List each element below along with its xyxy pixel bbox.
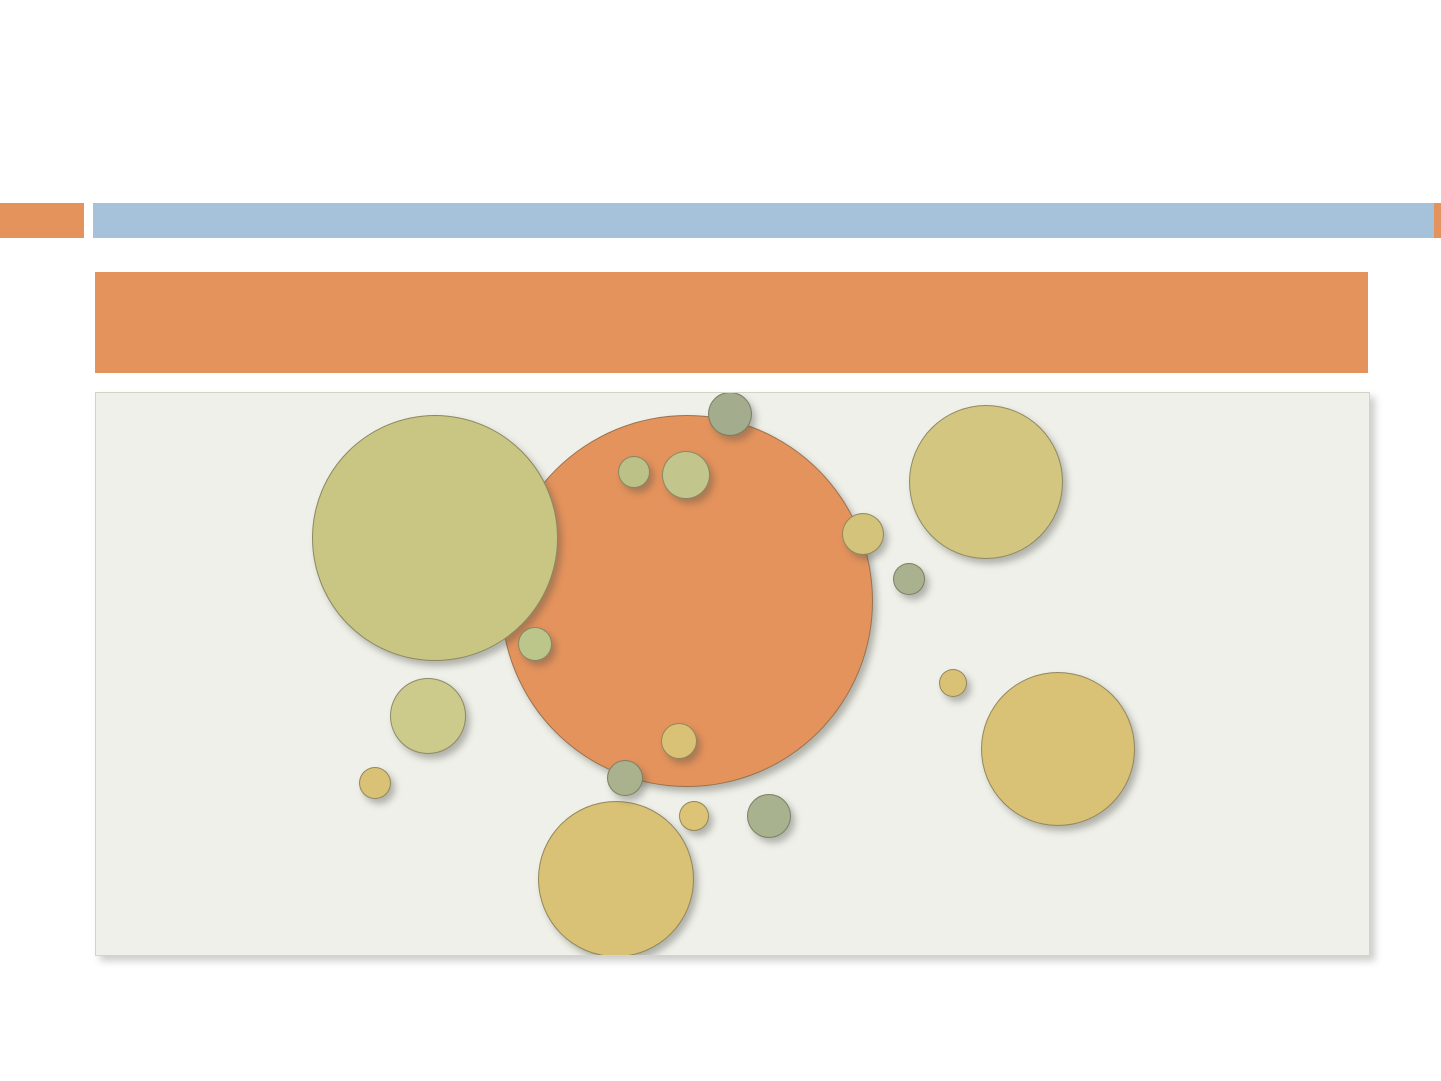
bubble-gold-edge-right[interactable]	[842, 513, 884, 555]
chart-panel[interactable]	[95, 392, 1370, 956]
bubble-olive-right-small[interactable]	[893, 563, 925, 595]
bubble-gold-tiny-left[interactable]	[359, 767, 391, 799]
bubble-gold-tiny-right[interactable]	[939, 669, 967, 697]
bubble-olive-inner-right[interactable]	[662, 451, 710, 499]
bubble-sage-bottom-right[interactable]	[747, 794, 791, 838]
slide-accent-square	[0, 203, 84, 238]
slide-title-banner	[95, 272, 1368, 373]
bubble-olive-mid-left[interactable]	[390, 678, 466, 754]
bubble-gold-tiny-center[interactable]	[679, 801, 709, 831]
bubble-gold-inner-bottom[interactable]	[661, 723, 697, 759]
slide-header-rule-endcap	[1434, 203, 1441, 238]
bubble-sage-top[interactable]	[708, 392, 752, 436]
slide-header-rule-bar	[93, 203, 1434, 238]
bubble-gold-upper-right[interactable]	[909, 405, 1063, 559]
bubble-olive-left-small[interactable]	[518, 627, 552, 661]
bubble-gold-lower-right[interactable]	[981, 672, 1135, 826]
bubble-gold-bottom-center[interactable]	[538, 801, 694, 956]
bubble-chart-plot-area[interactable]	[96, 393, 1369, 955]
bubble-olive-inner-left[interactable]	[618, 456, 650, 488]
bubble-sage-edge-bottom[interactable]	[607, 760, 643, 796]
bubble-olive-left-large[interactable]	[312, 415, 558, 661]
